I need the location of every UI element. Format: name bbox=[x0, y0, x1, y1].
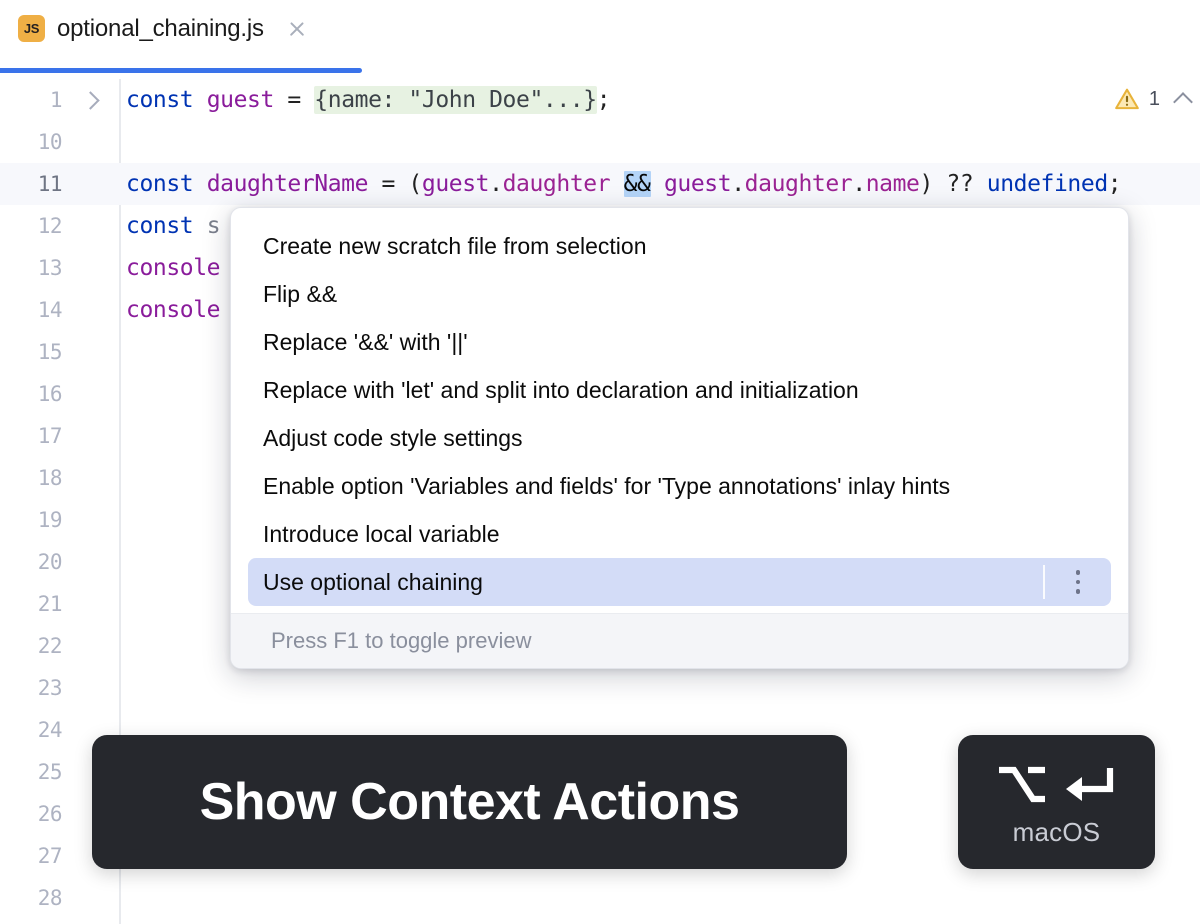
line-number-21: 21 bbox=[0, 592, 62, 616]
context-action-label: Flip && bbox=[263, 281, 1111, 308]
context-actions-popup[interactable]: Create new scratch file from selectionFl… bbox=[230, 207, 1129, 669]
javascript-file-icon: JS bbox=[18, 15, 45, 42]
context-action-label: Replace '&&' with '||' bbox=[263, 329, 1111, 356]
option-key-icon bbox=[995, 762, 1049, 806]
os-label: macOS bbox=[1013, 817, 1101, 848]
context-action-label: Create new scratch file from selection bbox=[263, 233, 1111, 260]
tab-filename-label: optional_chaining.js bbox=[57, 15, 264, 43]
context-action-item[interactable]: Introduce local variable bbox=[248, 510, 1111, 558]
action-name-label: Show Context Actions bbox=[200, 772, 740, 832]
code-line-1[interactable]: 1const guest = {name: "John Doe"...}; bbox=[0, 79, 1200, 121]
warning-count-label: 1 bbox=[1149, 88, 1160, 111]
chevron-up-icon[interactable] bbox=[1173, 92, 1193, 112]
return-key-icon bbox=[1060, 762, 1118, 806]
line-number-16: 16 bbox=[0, 382, 62, 406]
ide-window: JS optional_chaining.js 1const guest = {… bbox=[0, 0, 1200, 924]
context-action-item[interactable]: Enable option 'Variables and fields' for… bbox=[248, 462, 1111, 510]
context-action-label: Adjust code style settings bbox=[263, 425, 1111, 452]
line-number-23: 23 bbox=[0, 676, 62, 700]
line-number-19: 19 bbox=[0, 508, 62, 532]
line-number-17: 17 bbox=[0, 424, 62, 448]
code-text: const s bbox=[119, 213, 220, 239]
context-action-item[interactable]: Replace with 'let' and split into declar… bbox=[248, 366, 1111, 414]
line-number-15: 15 bbox=[0, 340, 62, 364]
code-text: const guest = {name: "John Doe"...}; bbox=[119, 87, 610, 113]
shortcut-badge: macOS bbox=[958, 735, 1155, 869]
line-number-10: 10 bbox=[0, 130, 62, 154]
context-actions-list: Create new scratch file from selectionFl… bbox=[231, 208, 1128, 613]
line-number-14: 14 bbox=[0, 298, 62, 322]
code-line-23[interactable]: 23 bbox=[0, 667, 1200, 709]
code-text: const daughterName = (guest.daughter && … bbox=[119, 171, 1121, 197]
context-action-item[interactable]: Flip && bbox=[248, 270, 1111, 318]
context-action-label: Use optional chaining bbox=[263, 569, 1043, 596]
context-action-label: Introduce local variable bbox=[263, 521, 1111, 548]
line-number-27: 27 bbox=[0, 844, 62, 868]
line-number-22: 22 bbox=[0, 634, 62, 658]
line-number-26: 26 bbox=[0, 802, 62, 826]
inspection-widget[interactable]: 1 bbox=[1114, 86, 1190, 112]
code-text: console bbox=[119, 297, 220, 323]
editor-tab-bar: JS optional_chaining.js bbox=[0, 0, 1200, 57]
line-number-20: 20 bbox=[0, 550, 62, 574]
close-icon[interactable] bbox=[284, 16, 310, 42]
context-action-item[interactable]: Create new scratch file from selection bbox=[248, 222, 1111, 270]
editor-tab-optional-chaining[interactable]: JS optional_chaining.js bbox=[0, 0, 310, 57]
kebab-menu-icon[interactable] bbox=[1045, 558, 1111, 606]
code-line-11[interactable]: 11const daughterName = (guest.daughter &… bbox=[0, 163, 1200, 205]
chevron-right-icon[interactable] bbox=[81, 91, 99, 109]
context-action-item[interactable]: Replace '&&' with '||' bbox=[248, 318, 1111, 366]
line-number-1: 1 bbox=[0, 88, 62, 112]
context-action-item[interactable]: Use optional chaining bbox=[248, 558, 1111, 606]
line-number-11: 11 bbox=[0, 172, 62, 196]
code-line-10[interactable]: 10 bbox=[0, 121, 1200, 163]
line-number-18: 18 bbox=[0, 466, 62, 490]
fold-gutter bbox=[62, 94, 119, 107]
line-number-12: 12 bbox=[0, 214, 62, 238]
line-number-28: 28 bbox=[0, 886, 62, 910]
code-line-28[interactable]: 28 bbox=[0, 877, 1200, 919]
line-number-13: 13 bbox=[0, 256, 62, 280]
context-action-label: Replace with 'let' and split into declar… bbox=[263, 377, 1111, 404]
code-text: console bbox=[119, 255, 220, 281]
action-name-badge: Show Context Actions bbox=[92, 735, 847, 869]
line-number-25: 25 bbox=[0, 760, 62, 784]
context-action-label: Enable option 'Variables and fields' for… bbox=[263, 473, 1111, 500]
popup-footer: Press F1 to toggle preview bbox=[231, 613, 1128, 668]
preview-hint-label: Press F1 to toggle preview bbox=[271, 628, 531, 654]
context-action-item[interactable]: Adjust code style settings bbox=[248, 414, 1111, 462]
shortcut-keys bbox=[995, 757, 1118, 811]
line-number-24: 24 bbox=[0, 718, 62, 742]
active-tab-indicator bbox=[0, 68, 362, 73]
warning-triangle-icon bbox=[1114, 86, 1140, 112]
